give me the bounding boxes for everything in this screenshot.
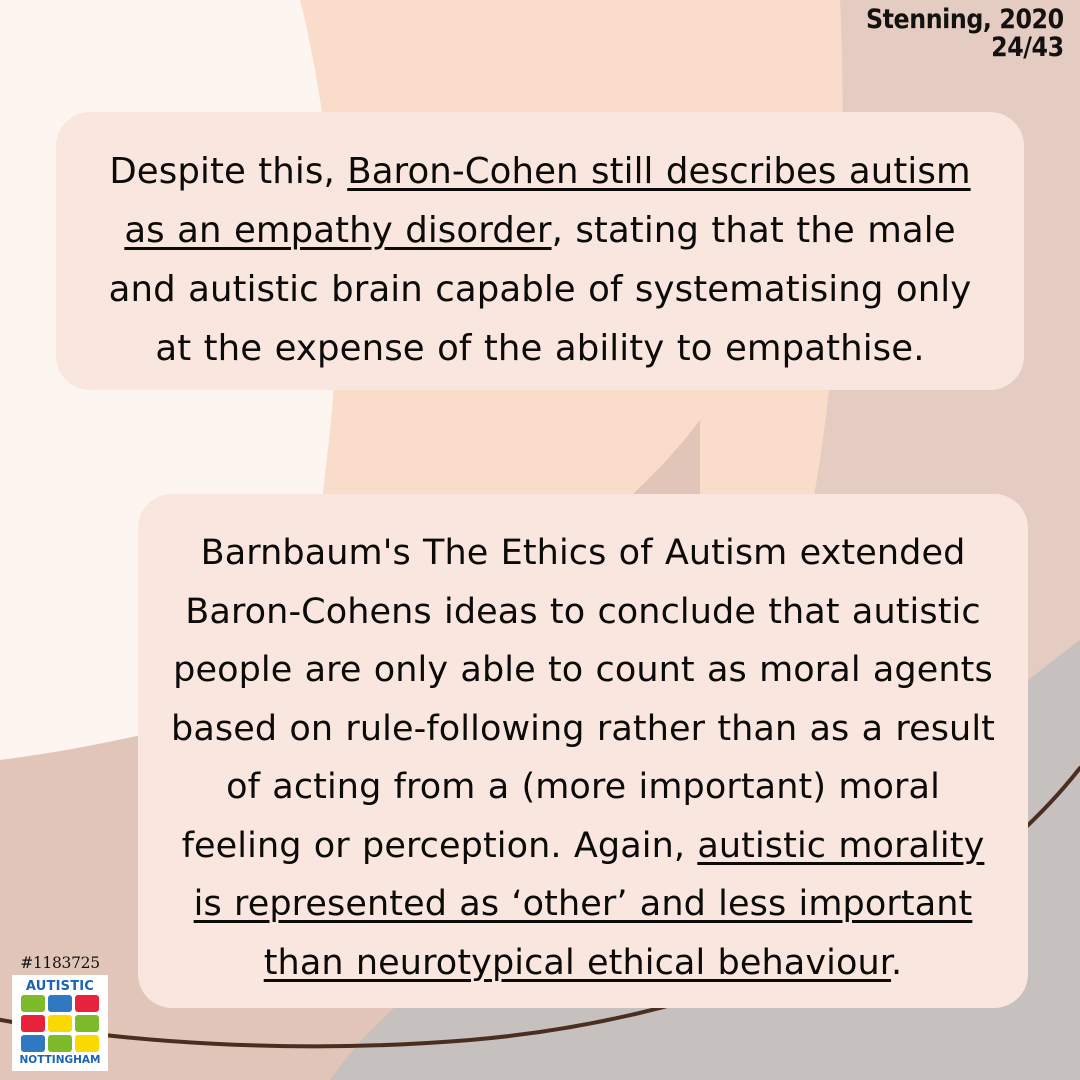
citation-page: 24/43 <box>866 34 1064 62</box>
logo-swatch-4 <box>21 1015 45 1032</box>
quote-card-one: Despite this, Baron-Cohen still describe… <box>56 112 1024 390</box>
citation: Stenning, 2020 24/43 <box>866 6 1064 61</box>
logo-word-nottingham: NOTTINGHAM <box>20 1055 101 1066</box>
body-text: Despite this, <box>109 151 347 192</box>
quote-card-two: Barnbaum's The Ethics of Autism extended… <box>138 494 1028 1008</box>
autistic-nottingham-logo: AUTISTIC NOTTINGHAM <box>12 975 108 1071</box>
logo-swatch-3 <box>75 995 99 1012</box>
quote-card-one-text: Despite this, Baron-Cohen still describe… <box>92 142 988 378</box>
logo-swatch-1 <box>21 995 45 1012</box>
logo-swatch-9 <box>75 1035 99 1052</box>
body-text: Barnbaum's The Ethics of Autism extended… <box>171 533 995 866</box>
logo-swatch-8 <box>48 1035 72 1052</box>
logo-swatch-2 <box>48 995 72 1012</box>
citation-source: Stenning, 2020 <box>866 6 1064 34</box>
body-text: . <box>891 943 902 983</box>
logo-word-autistic: AUTISTIC <box>26 980 94 993</box>
logo-color-grid <box>21 995 99 1052</box>
logo-swatch-7 <box>21 1035 45 1052</box>
logo-reference-number: #1183725 <box>12 956 108 972</box>
slide-canvas: Stenning, 2020 24/43 Despite this, Baron… <box>0 0 1080 1080</box>
logo-block: #1183725 AUTISTIC NOTTINGHAM <box>12 956 108 1071</box>
logo-swatch-5 <box>48 1015 72 1032</box>
quote-card-two-text: Barnbaum's The Ethics of Autism extended… <box>164 524 1002 992</box>
logo-swatch-6 <box>75 1015 99 1032</box>
